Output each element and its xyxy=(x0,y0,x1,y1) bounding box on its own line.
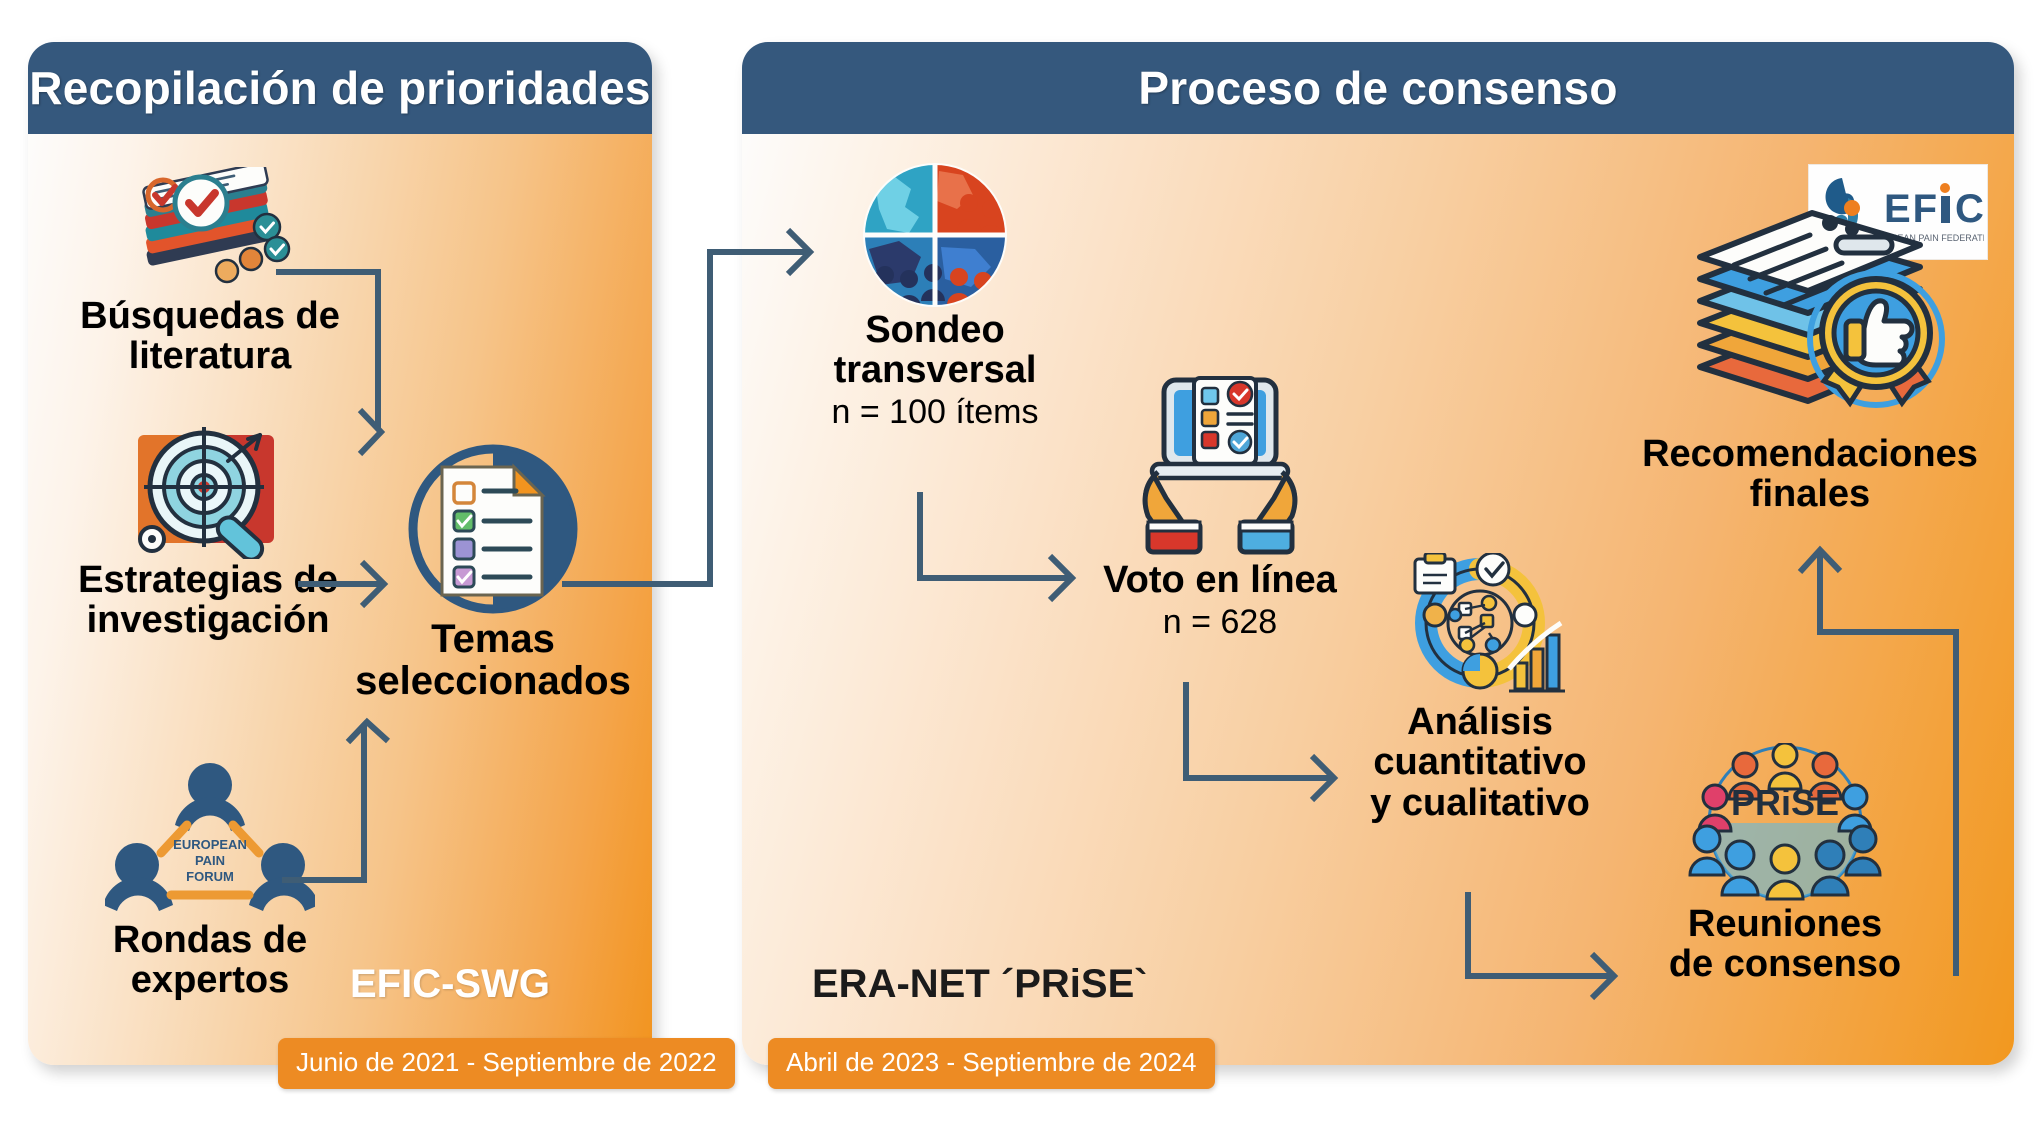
node-research-strategies-label-1: Estrategias de xyxy=(48,560,368,600)
node-final-recommendations-label-2: finales xyxy=(1600,474,2020,514)
node-consensus-meetings-label-2: de consenso xyxy=(1600,944,1970,984)
node-survey-label-1: Sondeo xyxy=(790,310,1080,350)
program-label-era-net: ERA-NET ´PRiSE` xyxy=(812,962,1148,1007)
node-selected-topics[interactable]: Temas seleccionados xyxy=(328,440,658,703)
panel-left-header: Recopilación de prioridades xyxy=(28,42,652,134)
node-final-recommendations-label-1: Recomendaciones xyxy=(1600,434,2020,474)
date-badge-left: Junio de 2021 - Septiembre de 2022 xyxy=(278,1038,735,1089)
node-research-strategies[interactable]: Estrategias de investigación xyxy=(48,420,368,641)
documents-award-thumbsup-icon xyxy=(1600,166,2020,434)
analytics-cycle-icon xyxy=(1290,552,1670,702)
node-selected-topics-label-2: seleccionados xyxy=(328,660,658,702)
svg-text:FORUM: FORUM xyxy=(186,869,234,884)
node-analysis-label-1: Análisis xyxy=(1290,702,1670,742)
european-pain-forum-icon: EUROPEAN PAIN FORUM xyxy=(60,760,360,920)
node-expert-rounds-label-1: Rondas de xyxy=(60,920,360,960)
stacked-documents-check-icon xyxy=(60,166,360,296)
node-literature-label-1: Búsquedas de xyxy=(60,296,360,336)
node-expert-rounds-label-2: expertos xyxy=(60,960,360,1000)
panel-right-header: Proceso de consenso xyxy=(742,42,2014,134)
panel-right-title: Proceso de consenso xyxy=(1138,61,1617,115)
svg-text:PAIN: PAIN xyxy=(195,853,225,868)
panel-left-title: Recopilación de prioridades xyxy=(29,61,650,115)
checklist-circle-icon xyxy=(328,440,658,618)
program-label-efic-swg: EFIC-SWG xyxy=(350,962,550,1007)
node-final-recommendations[interactable]: Recomendaciones finales xyxy=(1600,166,2020,515)
node-research-strategies-label-2: investigación xyxy=(48,600,368,640)
hands-tablet-ballot-icon xyxy=(1000,370,1440,560)
prise-logo-text: PRiSE xyxy=(1731,782,1839,823)
svg-text:EUROPEAN: EUROPEAN xyxy=(173,837,247,852)
date-badge-right: Abril de 2023 - Septiembre de 2024 xyxy=(768,1038,1215,1089)
node-literature-searches[interactable]: Búsquedas de literatura xyxy=(60,166,360,377)
node-consensus-meetings[interactable]: PRiSE Reuniones de consenso xyxy=(1600,742,1970,985)
prise-people-circle-icon: PRiSE xyxy=(1600,742,1970,904)
node-consensus-meetings-label-1: Reuniones xyxy=(1600,904,1970,944)
diagram-canvas: Recopilación de prioridades xyxy=(0,0,2040,1131)
node-expert-rounds[interactable]: EUROPEAN PAIN FORUM Rondas de expertos xyxy=(60,760,360,1001)
node-selected-topics-label-1: Temas xyxy=(328,618,658,660)
globe-people-survey-icon xyxy=(790,160,1080,310)
target-magnifier-icon xyxy=(48,420,368,560)
node-literature-label-2: literatura xyxy=(60,336,360,376)
